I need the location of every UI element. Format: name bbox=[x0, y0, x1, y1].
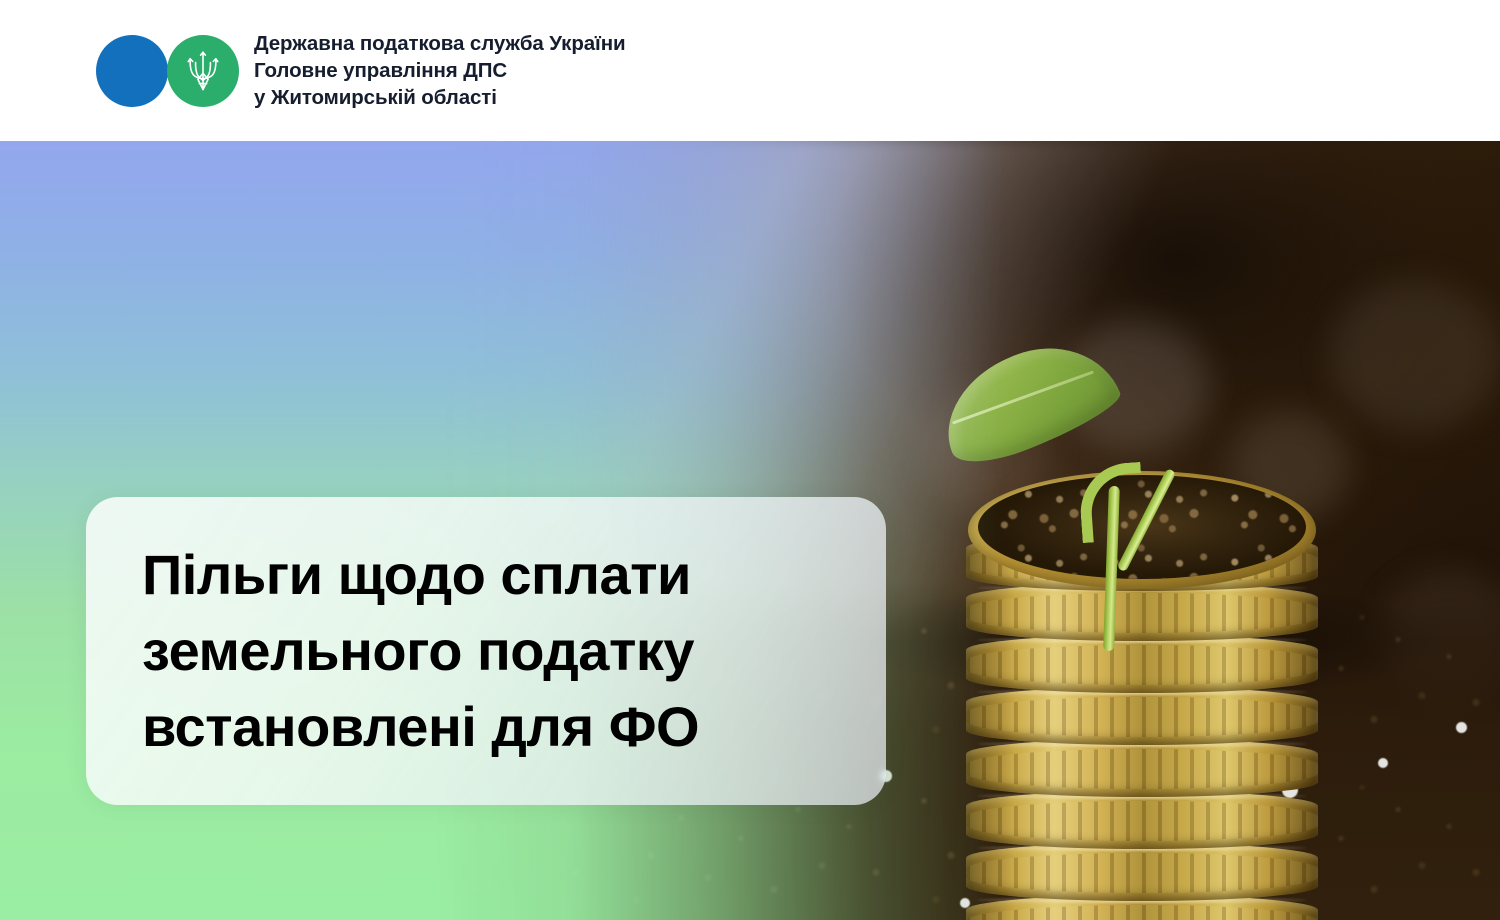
page-title-line-3: встановлені для ФО bbox=[142, 689, 699, 765]
organization-name: Державна податкова служба України Головн… bbox=[254, 30, 626, 111]
org-name-line-2: Головне управління ДПС bbox=[254, 57, 626, 84]
organization-logo[interactable]: Державна податкова служба України Головн… bbox=[96, 30, 626, 111]
org-name-line-1: Державна податкова служба України bbox=[254, 30, 626, 57]
ukraine-trident-icon bbox=[186, 49, 220, 93]
hero-photo: Пільги щодо сплати земельного податку вс… bbox=[0, 141, 1500, 920]
page-title: Пільги щодо сплати земельного податку вс… bbox=[142, 537, 699, 765]
site-header: Державна податкова служба України Головн… bbox=[0, 0, 1500, 141]
page-title-line-2: земельного податку bbox=[142, 613, 699, 689]
green-circle-icon bbox=[167, 35, 239, 107]
hero-title-card: Пільги щодо сплати земельного податку вс… bbox=[86, 497, 886, 805]
page-title-line-1: Пільги щодо сплати bbox=[142, 537, 699, 613]
blue-circle-icon bbox=[96, 35, 168, 107]
org-name-line-3: у Житомирській області bbox=[254, 84, 626, 111]
logo-marks bbox=[96, 35, 236, 107]
poster-canvas: Пільги щодо сплати земельного податку вс… bbox=[0, 0, 1500, 920]
